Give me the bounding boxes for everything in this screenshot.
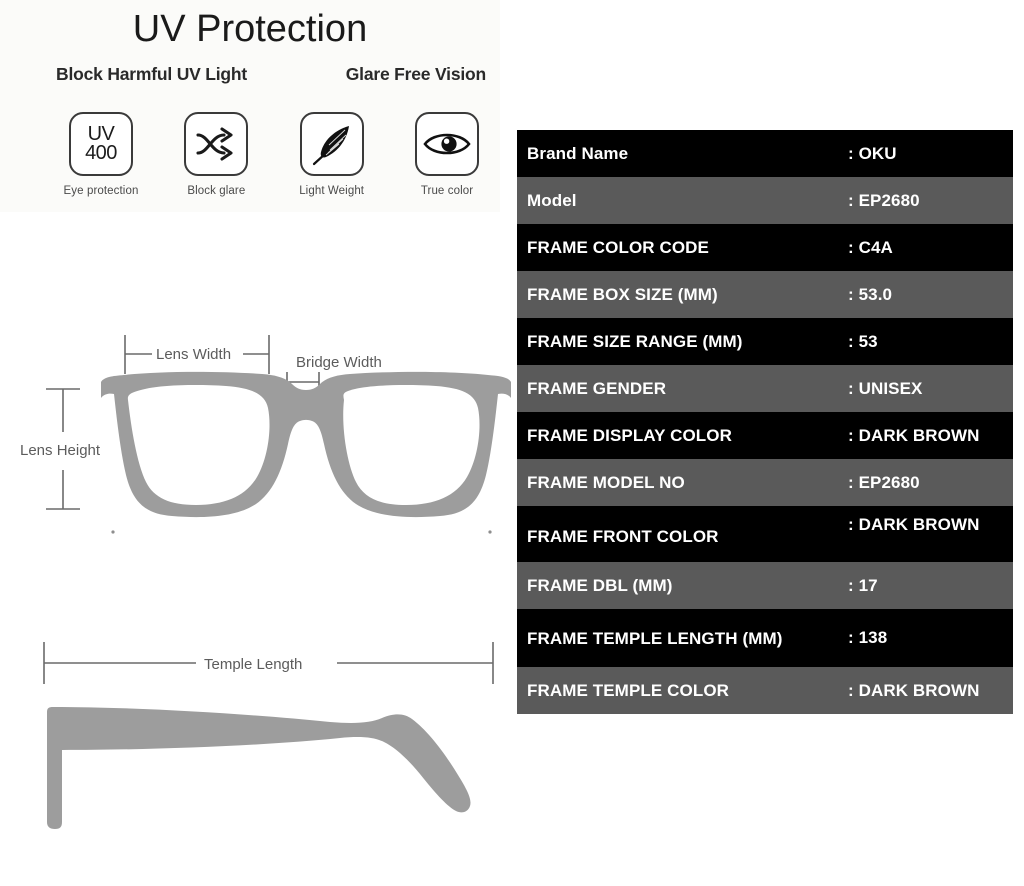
spec-label: FRAME GENDER [517,378,848,399]
feature-eye-protection: UV 400 Eye protection [52,112,150,197]
table-row: FRAME FRONT COLOR : DARK BROWN [517,506,1013,562]
table-row: FRAME MODEL NO : EP2680 [517,459,1013,506]
table-row: FRAME GENDER : UNISEX [517,365,1013,412]
uv400-icon: UV 400 [69,112,133,176]
table-row: Brand Name : OKU [517,130,1013,177]
spec-value: : 53.0 [848,285,1013,305]
spec-label: Brand Name [517,143,848,164]
table-row: Model : EP2680 [517,177,1013,224]
spec-value: : DARK BROWN [848,506,1013,535]
spec-label: FRAME DISPLAY COLOR [517,425,848,446]
spec-label: FRAME BOX SIZE (MM) [517,284,848,305]
table-row: FRAME DISPLAY COLOR : DARK BROWN [517,412,1013,459]
spec-label: FRAME TEMPLE COLOR [517,680,848,701]
lens-width-label: Lens Width [156,346,231,363]
hinge-dot-left [111,530,114,533]
spec-label: FRAME SIZE RANGE (MM) [517,331,848,352]
spec-label: Model [517,190,848,211]
hinge-dot-right [488,530,491,533]
spec-value: : UNISEX [848,379,1013,399]
spec-label: FRAME DBL (MM) [517,575,848,596]
feature-light-weight: Light Weight [283,112,381,197]
feather-icon [300,112,364,176]
table-row: FRAME TEMPLE LENGTH (MM) : 138 [517,609,1013,667]
product-specification-table: Brand Name : OKU Model : EP2680 FRAME CO… [517,130,1013,714]
spec-value: : 138 [848,628,1013,648]
spec-value: : EP2680 [848,473,1013,493]
feature-caption-eye-protection: Eye protection [64,185,139,197]
feature-icon-row: UV 400 Eye protection [52,112,496,197]
feature-caption-light-weight: Light Weight [299,185,364,197]
spec-value: : C4A [848,238,1013,258]
uv400-icon-line2: 400 [85,144,117,163]
spec-label: FRAME COLOR CODE [517,237,848,258]
spec-value: : EP2680 [848,191,1013,211]
spec-label: FRAME TEMPLE LENGTH (MM) [517,628,848,649]
spec-value: : 17 [848,576,1013,596]
spec-value: : DARK BROWN [848,681,1013,701]
table-row: FRAME COLOR CODE : C4A [517,224,1013,271]
feature-caption-true-color: True color [421,185,473,197]
uv-protection-subtitles: Block Harmful UV Light Glare Free Vision [56,64,486,85]
subtitle-block-uv-light: Block Harmful UV Light [56,64,247,85]
feature-true-color: True color [398,112,496,197]
subtitle-glare-free: Glare Free Vision [346,64,486,85]
temple-length-label: Temple Length [204,656,302,673]
spec-label: FRAME MODEL NO [517,472,848,493]
spec-value: : OKU [848,144,1013,164]
uv-protection-title: UV Protection [0,8,500,51]
table-row: FRAME TEMPLE COLOR : DARK BROWN [517,667,1013,714]
spec-value: : 53 [848,332,1013,352]
spec-label: FRAME FRONT COLOR [517,506,848,547]
frame-front-measurement-diagram: Lens Width Bridge Width Lens Height [0,320,512,570]
shuffle-icon [184,112,248,176]
feature-caption-block-glare: Block glare [187,185,245,197]
table-row: FRAME BOX SIZE (MM) : 53.0 [517,271,1013,318]
eyeglass-frame-shape [101,372,511,517]
eye-icon [415,112,479,176]
table-row: FRAME DBL (MM) : 17 [517,562,1013,609]
feature-block-glare: Block glare [167,112,265,197]
temple-arm-shape [47,707,471,829]
table-row: FRAME SIZE RANGE (MM) : 53 [517,318,1013,365]
uv-protection-banner: UV Protection Block Harmful UV Light Gla… [0,0,500,212]
product-illustration-panel: UV Protection Block Harmful UV Light Gla… [0,0,512,886]
spec-value: : DARK BROWN [848,426,1013,446]
temple-length-diagram: Temple Length [0,622,512,852]
bridge-width-label: Bridge Width [296,354,382,371]
lens-height-label: Lens Height [20,442,101,459]
